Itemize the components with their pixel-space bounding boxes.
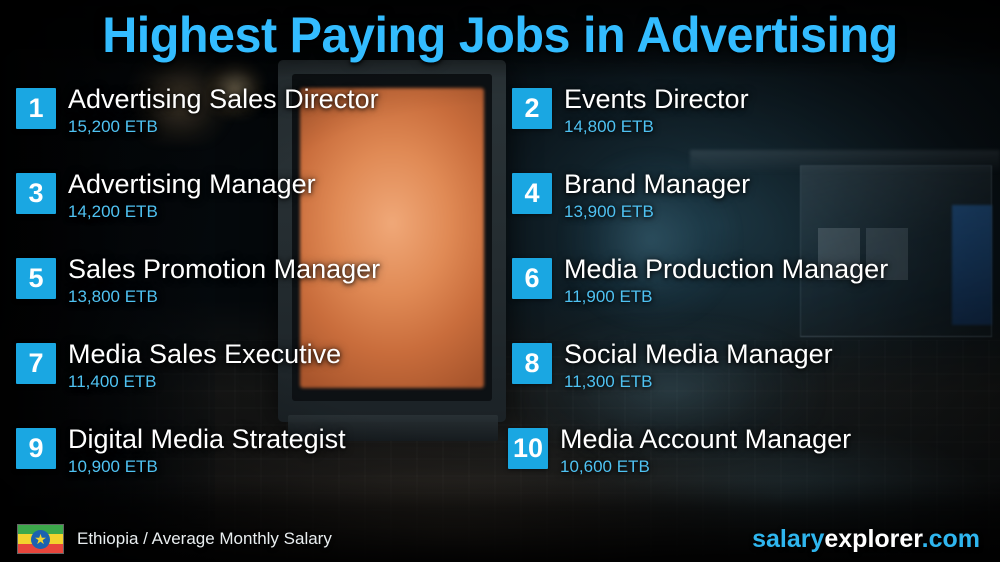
brand-part-explorer: explorer [824, 525, 921, 553]
list-item[interactable]: 5 Sales Promotion Manager 13,800 ETB [16, 258, 508, 307]
footer-caption: Ethiopia / Average Monthly Salary [77, 524, 332, 554]
brand-logo[interactable]: salaryexplorer.com [752, 525, 980, 554]
rank-badge: 3 [16, 173, 56, 214]
job-salary: 15,200 ETB [68, 116, 379, 137]
list-item[interactable]: 1 Advertising Sales Director 15,200 ETB [16, 88, 508, 137]
rank-badge: 7 [16, 343, 56, 384]
star-icon: ★ [34, 532, 47, 546]
job-salary: 11,400 ETB [68, 371, 341, 392]
rank-badge: 9 [16, 428, 56, 469]
job-salary: 10,900 ETB [68, 456, 346, 477]
brand-part-salary: salary [752, 525, 824, 553]
list-item[interactable]: 9 Digital Media Strategist 10,900 ETB [16, 428, 508, 477]
list-item[interactable]: 4 Brand Manager 13,900 ETB [512, 173, 1000, 222]
rank-badge: 10 [508, 428, 548, 469]
brand-part-domain: .com [922, 525, 980, 553]
list-item[interactable]: 2 Events Director 14,800 ETB [512, 88, 1000, 137]
list-item[interactable]: 6 Media Production Manager 11,900 ETB [512, 258, 1000, 307]
job-salary: 10,600 ETB [560, 456, 851, 477]
job-salary: 13,800 ETB [68, 286, 380, 307]
job-title: Media Sales Executive [68, 338, 341, 370]
job-salary: 11,900 ETB [564, 286, 888, 307]
job-salary: 11,300 ETB [564, 371, 833, 392]
job-title: Media Production Manager [564, 253, 888, 285]
job-title: Brand Manager [564, 168, 750, 200]
job-title: Advertising Sales Director [68, 83, 379, 115]
job-title: Digital Media Strategist [68, 423, 346, 455]
job-salary: 13,900 ETB [564, 201, 750, 222]
page-title: Highest Paying Jobs in Advertising [15, 6, 985, 64]
flag-emblem-disc: ★ [31, 530, 50, 549]
list-item[interactable]: 7 Media Sales Executive 11,400 ETB [16, 343, 508, 392]
job-title: Advertising Manager [68, 168, 316, 200]
rank-badge: 6 [512, 258, 552, 299]
job-title: Events Director [564, 83, 749, 115]
job-title: Social Media Manager [564, 338, 833, 370]
rank-badge: 8 [512, 343, 552, 384]
job-title: Media Account Manager [560, 423, 851, 455]
rank-badge: 5 [16, 258, 56, 299]
ethiopia-flag-icon: ★ [17, 524, 64, 554]
job-salary: 14,200 ETB [68, 201, 316, 222]
rank-badge: 2 [512, 88, 552, 129]
list-item[interactable]: 8 Social Media Manager 11,300 ETB [512, 343, 1000, 392]
salary-infographic: Highest Paying Jobs in Advertising 1 Adv… [0, 0, 1000, 562]
rank-badge: 1 [16, 88, 56, 129]
job-title: Sales Promotion Manager [68, 253, 380, 285]
job-salary: 14,800 ETB [564, 116, 749, 137]
list-item[interactable]: 3 Advertising Manager 14,200 ETB [16, 173, 508, 222]
footer-country: ★ Ethiopia / Average Monthly Salary [17, 524, 332, 554]
list-item[interactable]: 10 Media Account Manager 10,600 ETB [508, 428, 1000, 477]
rank-badge: 4 [512, 173, 552, 214]
